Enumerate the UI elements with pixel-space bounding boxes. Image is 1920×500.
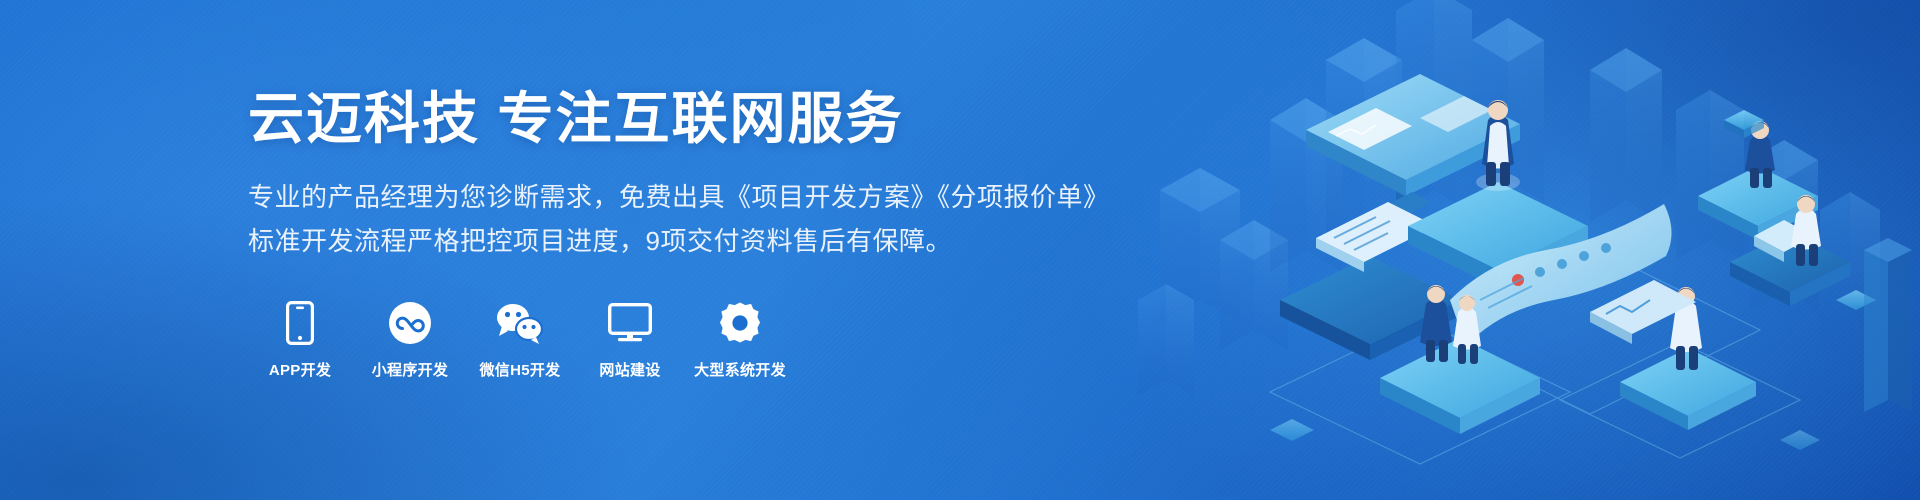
monitor-icon	[608, 300, 652, 346]
center-pedestal	[1408, 182, 1588, 288]
service-item-app[interactable]: APP开发	[252, 300, 348, 380]
person-lower-right	[1670, 287, 1702, 370]
subtitle-line-1: 专业的产品经理为您诊断需求，免费出具《项目开发方案》《分项报价单》	[248, 176, 1110, 218]
gear-icon	[718, 300, 762, 346]
person-walking-mid-right	[1791, 195, 1821, 266]
service-item-website[interactable]: 网站建设	[582, 300, 678, 380]
wechat-icon	[495, 300, 545, 346]
platform-left	[1280, 256, 1460, 360]
floating-chips	[1270, 110, 1876, 450]
platform-mid-right	[1730, 220, 1850, 306]
banner-content: 云迈科技 专注互联网服务 专业的产品经理为您诊断需求，免费出具《项目开发方案》《…	[248, 86, 1110, 380]
data-sheet	[1450, 204, 1672, 346]
person-seated-upper-right	[1745, 121, 1775, 188]
mobile-phone-icon	[286, 300, 314, 346]
subtitle-line-2: 标准开发流程严格把控项目进度，9项交付资料售后有保障。	[248, 220, 1110, 262]
service-item-system[interactable]: 大型系统开发	[692, 300, 788, 380]
ground-grid	[1270, 246, 1800, 464]
service-list: APP开发 小程序开发	[252, 300, 1110, 380]
banner-subtitle: 专业的产品经理为您诊断需求，免费出具《项目开发方案》《分项报价单》 标准开发流程…	[248, 176, 1110, 262]
background-buildings	[1138, 0, 1880, 396]
service-label: 小程序开发	[372, 359, 449, 380]
service-item-wechat[interactable]: 微信H5开发	[472, 300, 568, 380]
service-label: APP开发	[269, 359, 331, 380]
hero-banner: 云迈科技 专注互联网服务 专业的产品经理为您诊断需求，免费出具《项目开发方案》《…	[0, 0, 1920, 500]
service-label: 大型系统开发	[694, 359, 786, 380]
service-label: 微信H5开发	[480, 359, 561, 380]
page-title: 云迈科技 专注互联网服务	[248, 86, 1110, 152]
service-label: 网站建设	[599, 359, 660, 380]
mini-program-icon	[388, 300, 432, 346]
document-card	[1316, 202, 1436, 272]
service-item-miniprogram[interactable]: 小程序开发	[362, 300, 458, 380]
dashboard-screen	[1306, 74, 1520, 224]
platform-upper-right	[1698, 166, 1818, 240]
person-standing-center	[1476, 100, 1520, 191]
illustration-isometric-tech-city	[1120, 0, 1920, 500]
platform-lower-left	[1380, 338, 1540, 434]
person-pair-lower-left	[1420, 285, 1481, 364]
foreground-towers	[1864, 238, 1912, 412]
analytics-tablet	[1590, 280, 1696, 344]
platform-lower-right	[1620, 348, 1756, 430]
